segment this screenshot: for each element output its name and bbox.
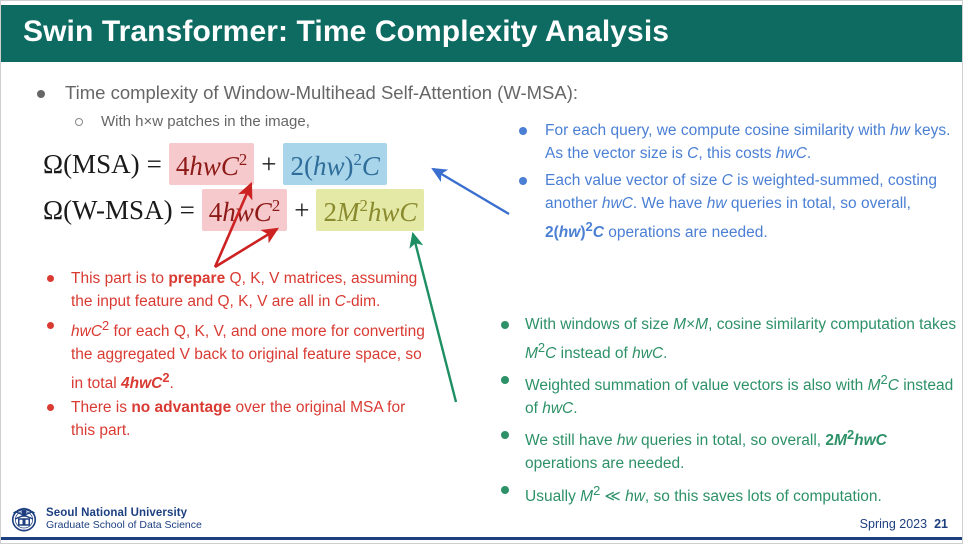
bullet-dot-icon xyxy=(501,376,509,384)
blue-bullet-text-1: For each query, we compute cosine simila… xyxy=(545,122,950,162)
bullet-dot-icon xyxy=(519,177,527,185)
intro-bullet-list: Time complexity of Window-Multihead Self… xyxy=(31,81,531,132)
green-bullet-text-3: We still have hw queries in total, so ov… xyxy=(525,432,887,472)
red-bullet-text-2: hwC2 for each Q, K, V, and one more for … xyxy=(71,323,425,392)
green-bullet-weighted-sum: Weighted summation of value vectors is a… xyxy=(491,368,959,420)
blue-bullet-text-2: Each value vector of size C is weighted-… xyxy=(545,172,937,241)
green-bullet-total-ops: We still have hw queries in total, so ov… xyxy=(491,423,959,475)
page-number: 21 xyxy=(934,517,948,531)
bullet-dot-icon xyxy=(47,404,54,411)
university-logo-block: Seoul National University Graduate Schoo… xyxy=(9,504,202,534)
term-label: Spring 2023 xyxy=(860,517,927,531)
green-bullet-text-2: Weighted summation of value vectors is a… xyxy=(525,377,953,417)
blue-bullet-value-cost: Each value vector of size C is weighted-… xyxy=(509,169,961,244)
formula-label-wmsa: Ω(W-MSA) xyxy=(43,195,173,226)
bullet-dot-icon xyxy=(47,275,54,282)
bullet-dot-icon xyxy=(519,127,527,135)
red-bullet-prepare: This part is to prepare Q, K, V matrices… xyxy=(39,267,431,313)
blue-bullet-query-cost: For each query, we compute cosine simila… xyxy=(509,119,961,165)
green-bullet-window-cos: With windows of size M×M, cosine similar… xyxy=(491,313,959,365)
red-bullet-text-3: There is no advantage over the original … xyxy=(71,399,405,439)
green-bullet-text-1: With windows of size M×M, cosine similar… xyxy=(525,316,956,362)
red-bullet-hwc2: hwC2 for each Q, K, V, and one more for … xyxy=(39,314,431,395)
formula-equals-sign: = xyxy=(140,149,169,180)
formula-row-wmsa: Ω(W-MSA) = 4hwC2 + 2M2hwC xyxy=(43,187,424,233)
slide-canvas: Swin Transformer: Time Complexity Analys… xyxy=(0,0,963,544)
bullet-ring-icon xyxy=(75,118,83,126)
bullet-dot-icon xyxy=(37,90,45,98)
red-annotation-list: This part is to prepare Q, K, V matrices… xyxy=(39,267,431,443)
footer-meta: Spring 202321 xyxy=(860,517,948,531)
slide-title: Swin Transformer: Time Complexity Analys… xyxy=(23,15,669,49)
bullet-level2-patches: With h×w patches in the image, xyxy=(31,112,531,132)
formula-term-prepare-wmsa: 4hwC2 xyxy=(202,189,287,231)
bullet-level2-label: With h×w patches in the image, xyxy=(101,113,310,130)
snu-crest-icon xyxy=(9,504,39,534)
red-bullet-text-1: This part is to prepare Q, K, V matrices… xyxy=(71,270,417,310)
school-name: Graduate School of Data Science xyxy=(46,520,202,532)
bullet-dot-icon xyxy=(501,321,509,329)
green-annotation-list: With windows of size M×M, cosine similar… xyxy=(491,313,959,511)
formula-equals-sign-2: = xyxy=(173,195,202,226)
blue-arrow-to-msa-attention xyxy=(433,169,509,214)
formula-group: Ω(MSA) = 4hwC2 + 2(hw)2C Ω(W-MSA) = 4hwC… xyxy=(43,141,424,233)
red-arrow-to-wmsa-prepare xyxy=(215,229,277,267)
formula-term-attention-msa: 2(hw)2C xyxy=(283,143,386,185)
red-bullet-no-advantage: There is no advantage over the original … xyxy=(39,396,431,442)
footer-divider xyxy=(1,537,963,540)
formula-plus-sign: + xyxy=(254,149,283,180)
bullet-level1-time-complexity: Time complexity of Window-Multihead Self… xyxy=(31,81,531,105)
university-name: Seoul National University xyxy=(46,507,202,520)
formula-row-msa: Ω(MSA) = 4hwC2 + 2(hw)2C xyxy=(43,141,424,187)
green-bullet-text-4: Usually M2 ≪ hw, so this saves lots of c… xyxy=(525,488,882,505)
formula-term-prepare-msa: 4hwC2 xyxy=(169,143,254,185)
bullet-dot-icon xyxy=(501,431,509,439)
green-bullet-savings: Usually M2 ≪ hw, so this saves lots of c… xyxy=(491,478,959,507)
bullet-dot-icon xyxy=(47,322,54,329)
formula-plus-sign-2: + xyxy=(287,195,316,226)
blue-annotation-list: For each query, we compute cosine simila… xyxy=(509,119,961,248)
bullet-dot-icon xyxy=(501,486,509,494)
formula-label-msa: Ω(MSA) xyxy=(43,149,140,180)
bullet-level1-label: Time complexity of Window-Multihead Self… xyxy=(65,82,578,103)
formula-term-attention-wmsa: 2M2hwC xyxy=(316,189,424,231)
university-logo-text: Seoul National University Graduate Schoo… xyxy=(46,507,202,532)
